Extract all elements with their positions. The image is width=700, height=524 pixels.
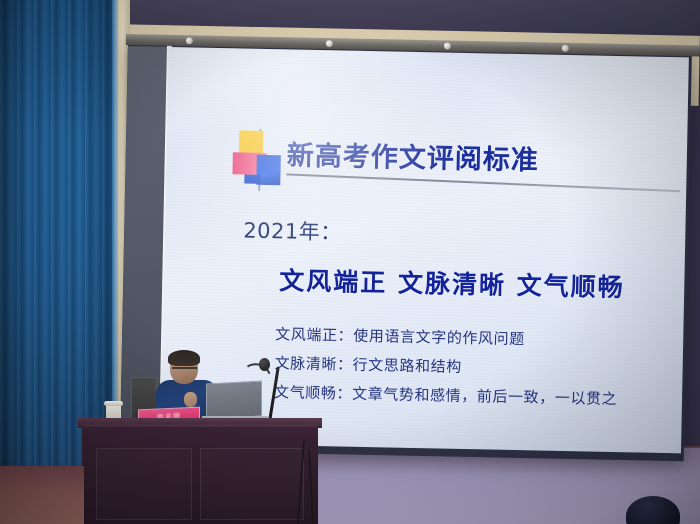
slide-bullet-3: 文气顺畅：文章气势和感情，前后一致，一以贯之	[274, 379, 618, 412]
podium-panel-left	[96, 448, 192, 520]
lecture-photo: 新高考作文评阅标准 2021年： 文风端正 文脉清晰 文气顺畅 文风端正：使用语…	[0, 0, 700, 524]
slide-logo-icon	[232, 128, 281, 187]
slide-title: 新高考作文评阅标准	[287, 133, 540, 177]
curtain-shading	[0, 0, 118, 470]
slide-headline: 文风端正 文脉清晰 文气顺畅	[279, 261, 625, 304]
logo-yellow-square-icon	[239, 130, 263, 152]
paper-cup-lid	[104, 401, 123, 406]
rail-screw-icon	[562, 45, 569, 52]
slide-bullet-2: 文脉清晰：行文思路和结构	[274, 350, 618, 383]
slide-bullet-list: 文风端正：使用语言文字的作风问题 文脉清晰：行文思路和结构 文气顺畅：文章气势和…	[274, 321, 619, 415]
rail-screw-icon	[326, 40, 333, 47]
stage-floor-left	[0, 466, 84, 524]
rail-screw-icon	[186, 37, 193, 44]
glasses-icon	[172, 367, 197, 373]
slide-year-label: 2021年：	[243, 215, 342, 247]
slide-bullet-1: 文风端正：使用语言文字的作风问题	[275, 321, 619, 354]
presenter-hand	[184, 392, 197, 407]
microphone-icon	[259, 358, 270, 371]
podium-panel-right	[200, 448, 304, 520]
rail-screw-icon	[444, 42, 451, 49]
logo-blue-tail-icon	[244, 175, 260, 184]
presenter-hair	[168, 350, 200, 366]
